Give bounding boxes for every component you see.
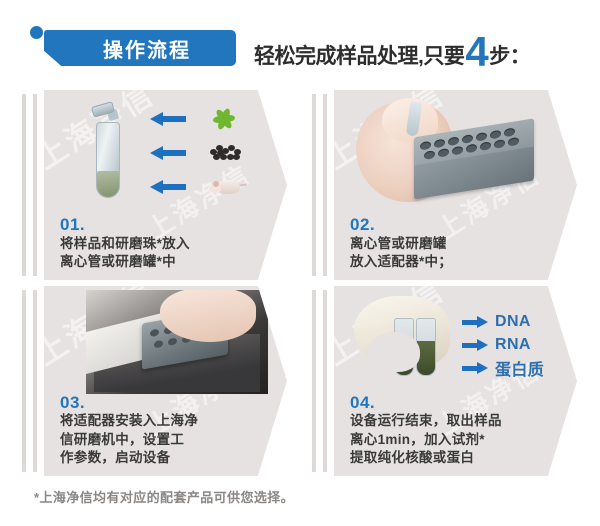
step-description: 将适配器安装入上海净 信研磨机中，设置工 作参数，启动设备 xyxy=(60,412,275,468)
sample-beads-icon xyxy=(204,140,250,166)
step-card-04: 上海净信 上海净信 DNA xyxy=(312,286,577,476)
output-row-dna: DNA xyxy=(462,310,574,333)
section-banner: 操作流程 xyxy=(30,26,250,66)
card-accent-bar xyxy=(312,94,316,276)
infographic-page: 操作流程 轻松完成样品处理,只要 4 步： 上海净信 上海净信 xyxy=(0,0,600,526)
sample-row-mouse xyxy=(44,176,287,198)
step-02-text: 02. 离心管或研磨罐 放入适配器*中； xyxy=(350,215,565,272)
card-accent-bar xyxy=(323,290,327,472)
output-label: RNA xyxy=(495,336,531,354)
headline-after: 步： xyxy=(489,40,530,70)
step-number: 01. xyxy=(60,215,275,235)
arrow-left-icon xyxy=(150,112,186,125)
arrow-right-icon xyxy=(462,339,488,351)
headline: 轻松完成样品处理,只要 4 步： xyxy=(254,28,530,70)
card-accent-bar xyxy=(33,290,37,472)
step-description: 将样品和研磨珠*放入 离心管或研磨罐*中 xyxy=(60,235,275,272)
card-accent-bar xyxy=(33,94,37,276)
card-panel: 上海净信 上海净信 xyxy=(334,90,577,280)
step-04-outputs: DNA RNA 蛋白质 xyxy=(462,310,574,379)
step-04-text: 04. 设备运行结束，取出样品 离心1min，加入试剂* 提取纯化核酸或蛋白 xyxy=(350,393,565,468)
steps-grid: 上海净信 上海净信 xyxy=(0,88,600,480)
sample-mouse-icon xyxy=(204,174,250,200)
step-04-photo xyxy=(354,296,466,390)
arrow-right-icon xyxy=(462,362,488,374)
card-accent-bar xyxy=(22,290,26,472)
arrow-right-icon xyxy=(462,316,488,328)
card-accent-bar xyxy=(323,94,327,276)
step-02-photo xyxy=(356,96,551,208)
step-description: 设备运行结束，取出样品 离心1min，加入试剂* 提取纯化核酸或蛋白 xyxy=(350,412,565,468)
card-panel: 上海净信 上海净信 xyxy=(44,90,287,280)
glove-shadow xyxy=(368,332,420,372)
arrow-left-icon xyxy=(150,146,186,159)
step-03-photo xyxy=(86,290,268,394)
step-number: 04. xyxy=(350,393,565,413)
banner-label: 操作流程 xyxy=(44,30,236,66)
sample-leaf-icon xyxy=(204,106,250,132)
output-row-protein: 蛋白质 xyxy=(462,356,574,379)
card-panel: 上海净信 上海净信 DNA xyxy=(334,286,577,476)
arrow-left-icon xyxy=(150,180,186,193)
footnote: *上海净信均有对应的配套产品可供您选择。 xyxy=(34,487,294,506)
step-01-artwork xyxy=(44,90,287,210)
step-01-text: 01. 将样品和研磨珠*放入 离心管或研磨罐*中 xyxy=(60,215,275,272)
card-accent-bar xyxy=(312,290,316,472)
step-card-03: 上海净信 上海净信 xyxy=(22,286,287,476)
step-03-text: 03. 将适配器安装入上海净 信研磨机中，设置工 作参数，启动设备 xyxy=(60,393,275,468)
step-card-01: 上海净信 上海净信 xyxy=(22,90,287,280)
output-label: 蛋白质 xyxy=(495,356,544,380)
sample-row-leaf xyxy=(44,108,287,130)
banner-dot-icon xyxy=(30,26,43,39)
step-card-02: 上海净信 上海净信 xyxy=(312,90,577,280)
card-panel: 上海净信 上海净信 xyxy=(44,286,287,476)
sample-row-beads xyxy=(44,142,287,164)
headline-step-count: 4 xyxy=(465,31,488,73)
headline-before: 轻松完成样品处理,只要 xyxy=(254,40,464,70)
output-label: DNA xyxy=(495,313,531,331)
step-number: 03. xyxy=(60,393,275,413)
step-number: 02. xyxy=(350,215,565,235)
card-accent-bar xyxy=(22,94,26,276)
output-row-rna: RNA xyxy=(462,333,574,356)
step-description: 离心管或研磨罐 放入适配器*中； xyxy=(350,235,565,272)
page-header: 操作流程 轻松完成样品处理,只要 4 步： xyxy=(0,0,600,86)
